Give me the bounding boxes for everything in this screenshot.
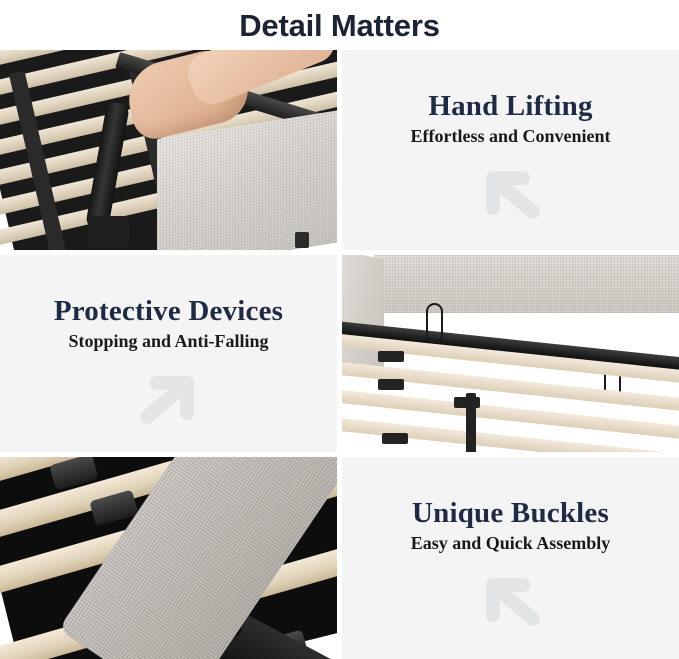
panel-subheading: Stopping and Anti-Falling — [68, 330, 268, 353]
handle-bracket — [88, 216, 130, 248]
upholstered-headboard — [374, 255, 679, 313]
panel-protective-devices-photo — [342, 255, 679, 452]
title-bar: Detail Matters — [0, 0, 679, 50]
panel-heading: Protective Devices — [54, 295, 283, 327]
arrow-up-left-icon — [476, 569, 546, 631]
panel-heading: Unique Buckles — [412, 497, 609, 529]
bed-foot — [295, 232, 309, 248]
slat-clip — [378, 379, 404, 390]
protective-buckles-image — [342, 255, 679, 452]
wire-buckle — [426, 303, 443, 343]
arrow-up-left-icon — [476, 162, 546, 224]
page-title: Detail Matters — [239, 10, 440, 41]
panel-unique-buckles-text: Unique Buckles Easy and Quick Assembly — [342, 457, 679, 659]
panel-heading: Hand Lifting — [428, 90, 592, 122]
panel-grid: Hand Lifting Effortless and Convenient P… — [0, 50, 679, 659]
infographic-root: Detail Matters — [0, 0, 679, 659]
hand-lifting-image — [0, 50, 337, 250]
slat-clip — [382, 433, 408, 444]
arrow-up-right-icon — [134, 367, 204, 429]
panel-subheading: Effortless and Convenient — [410, 125, 610, 148]
center-support-bar — [466, 393, 476, 452]
panel-unique-buckles-photo — [0, 457, 337, 659]
panel-subheading: Easy and Quick Assembly — [411, 532, 611, 555]
panel-hand-lifting-text: Hand Lifting Effortless and Convenient — [342, 50, 679, 250]
panel-protective-devices-text: Protective Devices Stopping and Anti-Fal… — [0, 255, 337, 452]
slat-clip — [378, 351, 404, 362]
panel-hand-lifting-photo — [0, 50, 337, 250]
unique-buckles-image — [0, 457, 337, 659]
